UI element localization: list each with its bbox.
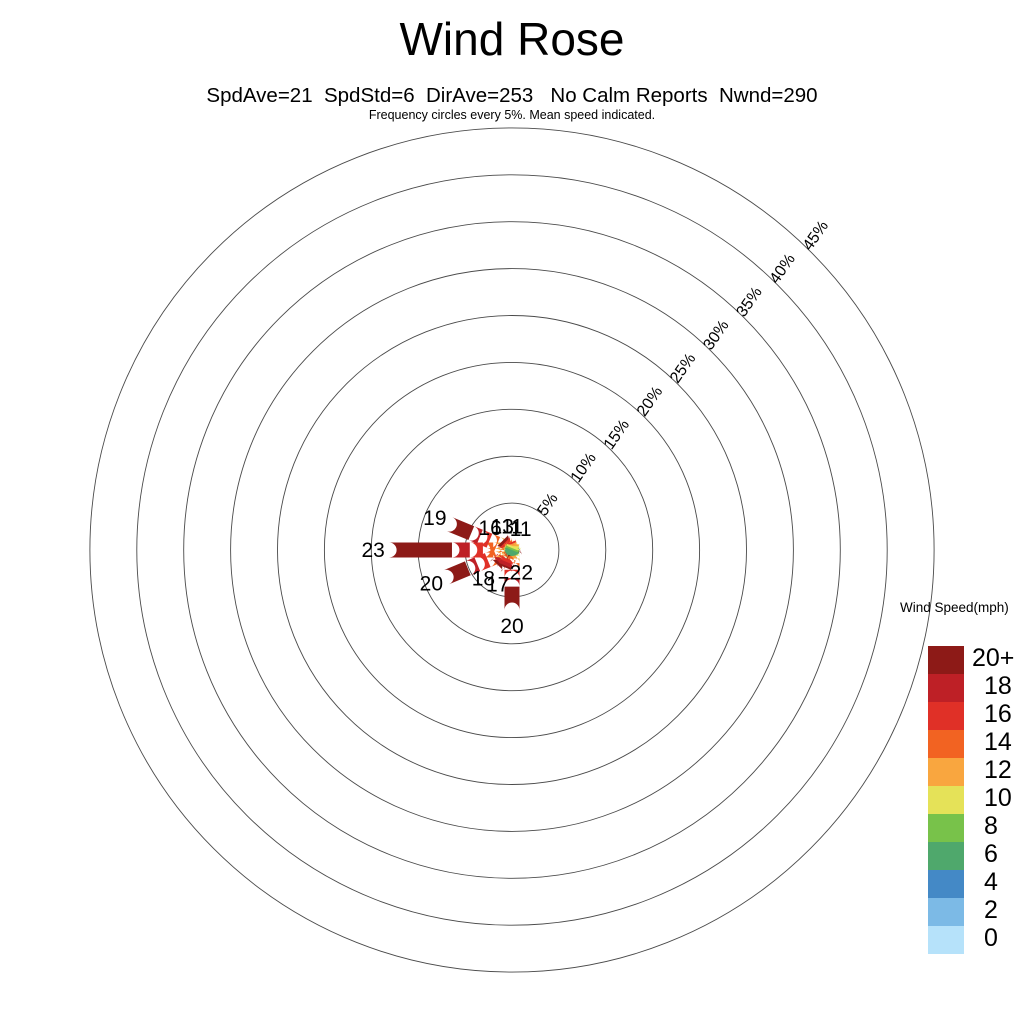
legend-swatch	[928, 702, 964, 730]
legend-swatch	[928, 842, 964, 870]
legend-swatch	[928, 898, 964, 926]
legend-row: 12	[928, 758, 964, 786]
legend-swatch	[928, 758, 964, 786]
legend-label: 10	[984, 784, 1024, 812]
radial-tick-label: 10%	[568, 450, 600, 486]
petal-mean-speed-label: 20	[500, 615, 523, 638]
legend-swatch	[928, 730, 964, 758]
legend-row: 0	[928, 926, 964, 954]
legend-row: 18	[928, 674, 964, 702]
legend-label: 18	[984, 672, 1024, 700]
petal-segment	[443, 561, 470, 584]
legend-row: 10	[928, 786, 964, 814]
radial-tick-label: 35%	[733, 284, 765, 320]
legend-swatch	[928, 870, 964, 898]
legend-row: 20+	[928, 646, 964, 674]
legend-label: 6	[984, 840, 1024, 868]
legend-title: Wind Speed(mph)	[900, 600, 1009, 615]
legend-swatch	[928, 926, 964, 954]
petal-mean-speed-label: 17	[486, 574, 509, 597]
radial-tick-label: 45%	[800, 218, 832, 254]
legend-label: 2	[984, 896, 1024, 924]
legend-label: 14	[984, 728, 1024, 756]
legend-label: 8	[984, 812, 1024, 840]
petal-segment	[447, 517, 474, 540]
legend-row: 14	[928, 730, 964, 758]
legend-row: 16	[928, 702, 964, 730]
legend-swatch	[928, 786, 964, 814]
radial-tick-label: 40%	[767, 251, 799, 287]
petal-mean-speed-label: 23	[361, 539, 384, 562]
legend-label: 0	[984, 924, 1024, 952]
legend-label: 16	[984, 700, 1024, 728]
radial-tick-label: 15%	[601, 417, 633, 453]
legend-swatch	[928, 674, 964, 702]
radial-tick-label: 25%	[667, 350, 699, 386]
legend-label: 12	[984, 756, 1024, 784]
petal-mean-speed-label: 22	[510, 562, 533, 585]
legend-color-bands: 20+181614121086420	[928, 646, 964, 954]
petal-segment	[452, 543, 470, 558]
radial-tick-label: 5%	[535, 490, 562, 519]
petal-mean-speed-label: 19	[423, 507, 446, 530]
legend-label: 4	[984, 868, 1024, 896]
legend-label: 20+	[972, 644, 1024, 672]
radial-tick-label: 20%	[634, 384, 666, 420]
wind-rose-plot: 5%10%15%20%25%30%35%40%45% 2319202018171…	[0, 0, 1024, 1024]
petal-mean-speed-label: 20	[420, 572, 443, 595]
legend-row: 4	[928, 870, 964, 898]
legend-row: 2	[928, 898, 964, 926]
legend-row: 8	[928, 814, 964, 842]
legend-swatch	[928, 814, 964, 842]
radial-tick-label: 30%	[700, 317, 732, 353]
legend-row: 6	[928, 842, 964, 870]
petal-segment	[389, 543, 452, 558]
legend-swatch	[928, 646, 964, 674]
petal-mean-speed-label: 11	[510, 518, 532, 541]
wind-rose-figure: Wind Rose SpdAve=21 SpdStd=6 DirAve=253 …	[0, 0, 1024, 1024]
